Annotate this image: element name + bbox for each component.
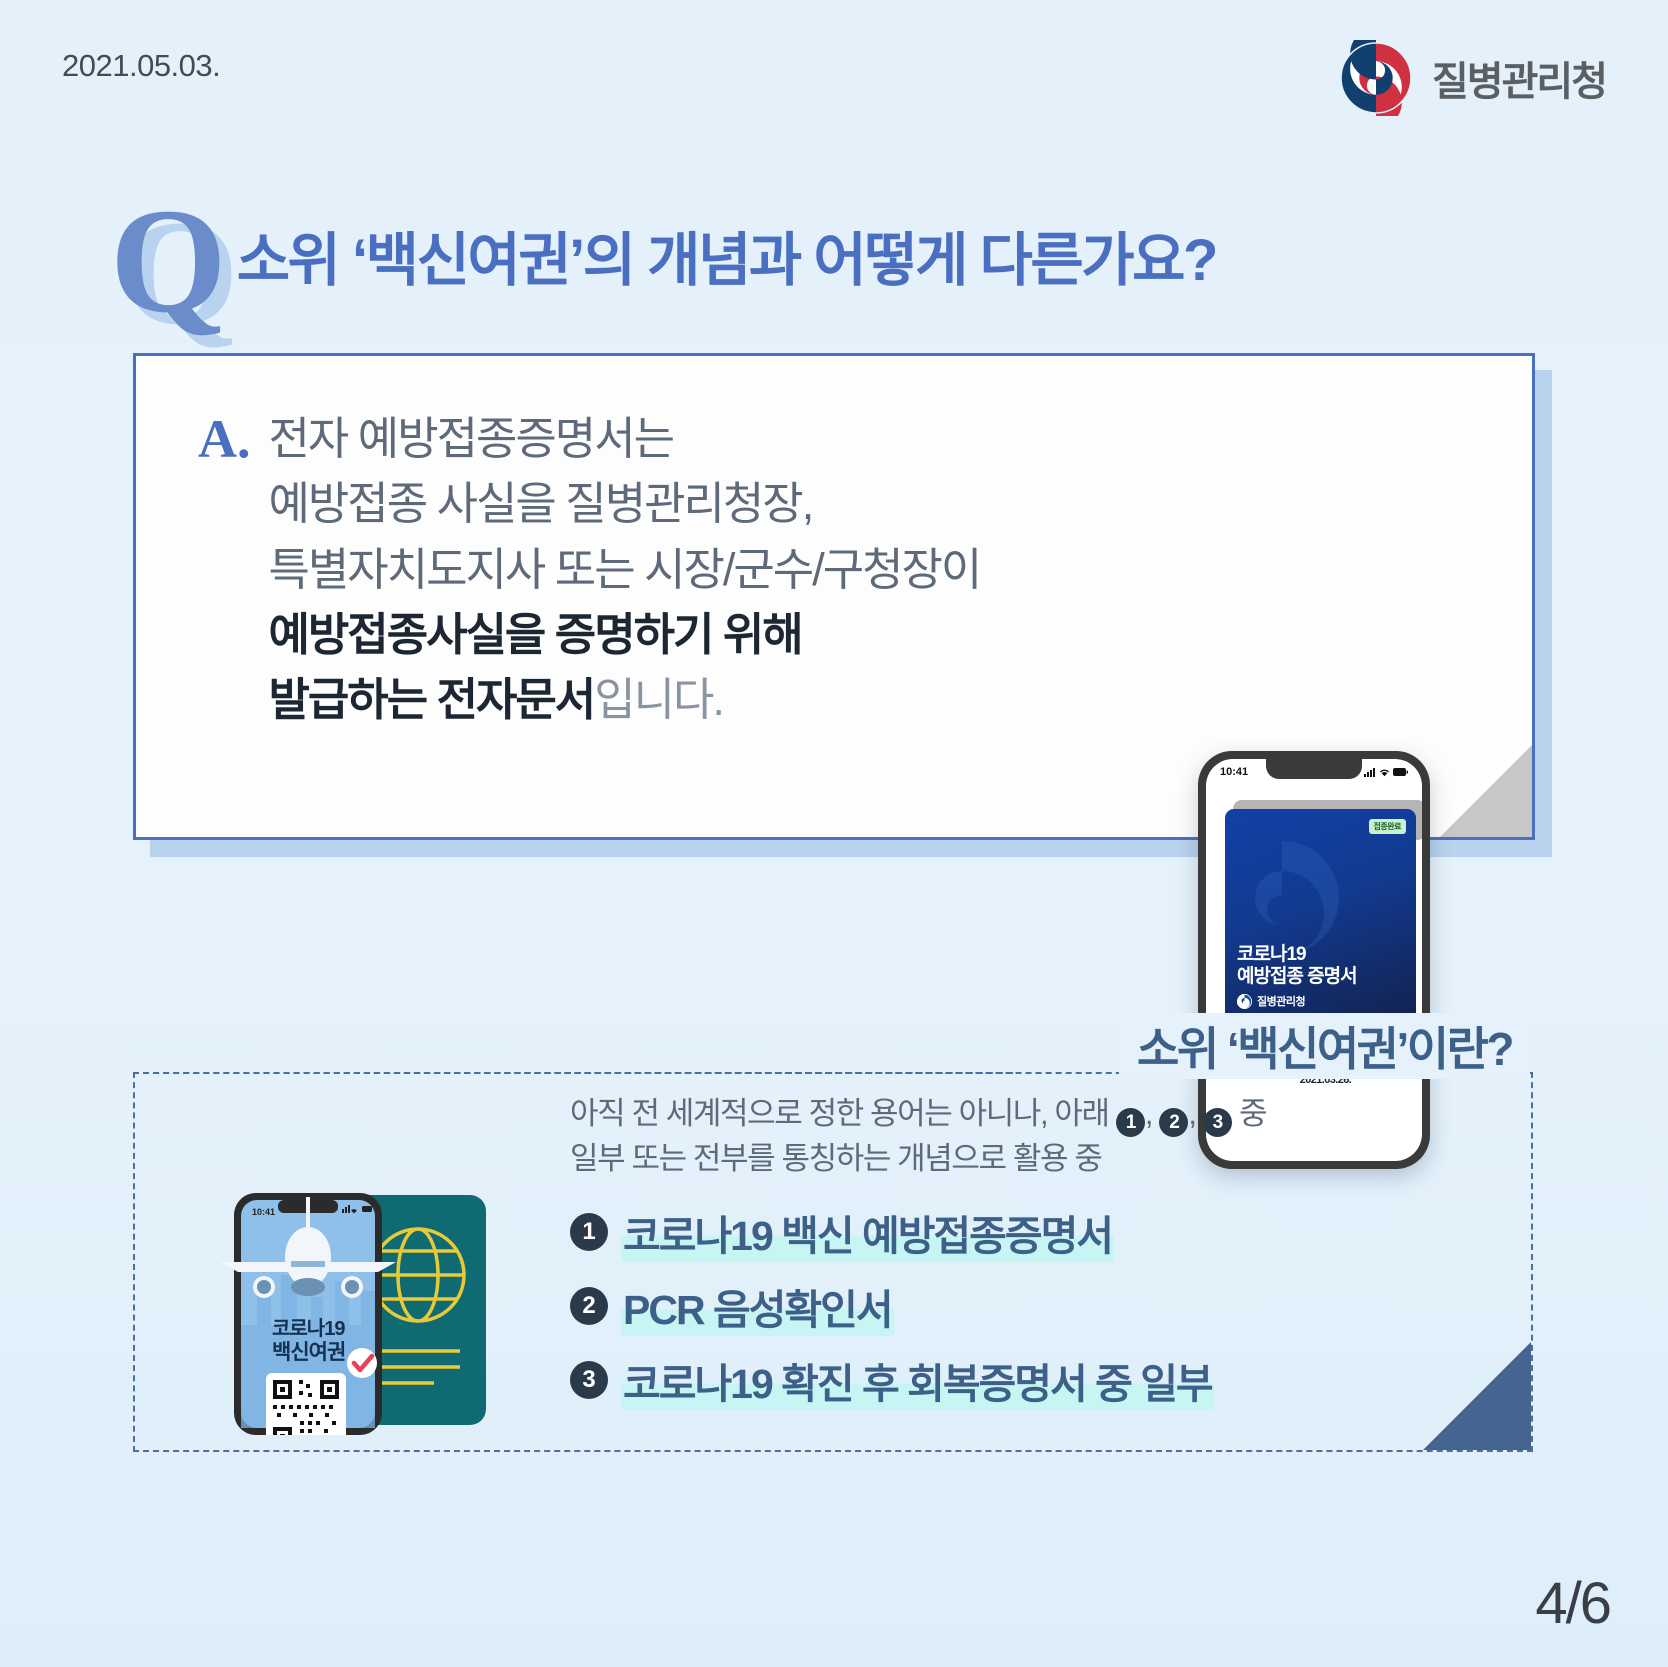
signal-icon (1364, 768, 1376, 777)
phone-passport-mockup: 10:41 (220, 1193, 396, 1435)
answer-line-3: 특별자치도지사 또는 시장/군수/구청장이 (269, 537, 981, 602)
phone-notch (1266, 759, 1362, 779)
certificate-title: 코로나19 예방접종 증명서 (1237, 944, 1357, 987)
vaccine-passport-list: 1 코로나19 백신 예방접종증명서 2 PCR 음성확인서 3 코로나19 확… (570, 1202, 1390, 1410)
section-title: 소위 ‘백신여권’이란? (1119, 1013, 1530, 1079)
certificate-title-line2: 예방접종 증명서 (1237, 966, 1357, 987)
taegeuk-small-icon (1237, 994, 1252, 1009)
answer-line-4: 예방접종사실을 증명하기 위해 (269, 602, 981, 667)
publish-date: 2021.05.03. (62, 48, 220, 84)
answer-line-1: 전자 예방접종증명서는 (269, 406, 981, 471)
certificate-card: 접종완료 코로나19 예방접종 증명서 질병관리청 (1225, 809, 1416, 1021)
infographic-page: 2021.05.03. 질병관리청 Q Q 소위 ‘백신여권’의 개념과 어떻게… (0, 0, 1668, 1667)
answer-marker: A. (198, 406, 251, 732)
question-title: 소위 ‘백신여권’의 개념과 어떻게 다른가요? (237, 213, 1216, 323)
question-heading: Q Q 소위 ‘백신여권’의 개념과 어떻게 다른가요? (110, 200, 1216, 323)
inline-number-2: 2 (1159, 1108, 1188, 1137)
list-item-label: 코로나19 확진 후 회복증명서 중 일부 (621, 1350, 1214, 1410)
answer-card: A. 전자 예방접종증명서는 예방접종 사실을 질병관리청장, 특별자치도지사 … (133, 353, 1535, 840)
list-item: 1 코로나19 백신 예방접종증명서 (570, 1202, 1390, 1262)
section-body: 아직 전 세계적으로 정한 용어는 아니나, 아래 1, 2, 3 중 일부 또… (570, 1092, 1390, 1424)
certificate-org: 질병관리청 (1237, 993, 1305, 1009)
list-number: 3 (570, 1361, 608, 1399)
kdca-logo: 질병관리청 (1338, 40, 1606, 116)
question-marker: Q Q (110, 200, 227, 323)
answer-block: A. 전자 예방접종증명서는 예방접종 사실을 질병관리청장, 특별자치도지사 … (198, 406, 980, 732)
certificate-org-label: 질병관리청 (1257, 993, 1305, 1009)
list-item-label: PCR 음성확인서 (621, 1276, 894, 1336)
paragraph-sep-2: , (1188, 1096, 1202, 1131)
inline-number-3: 3 (1203, 1108, 1232, 1137)
paragraph-part-1: 아직 전 세계적으로 정한 용어는 아니나, 아래 (570, 1096, 1116, 1131)
wifi-icon (1379, 768, 1390, 777)
check-icon (347, 1348, 377, 1378)
vaccine-passport-illustration: 10:41 (196, 1135, 526, 1435)
svg-text:코로나19: 코로나19 (272, 1317, 345, 1340)
inline-number-1: 1 (1116, 1108, 1145, 1137)
list-item: 3 코로나19 확진 후 회복증명서 중 일부 (570, 1350, 1390, 1410)
list-item: 2 PCR 음성확인서 (570, 1276, 1390, 1336)
list-number: 2 (570, 1287, 608, 1325)
page-number: 4/6 (1535, 1570, 1610, 1637)
paragraph-part-2: 중 (1232, 1096, 1266, 1131)
corner-triangle (1423, 1342, 1531, 1450)
list-item-label: 코로나19 백신 예방접종증명서 (621, 1202, 1114, 1262)
paragraph-line-2: 일부 또는 전부를 통칭하는 개념으로 활용 중 (570, 1137, 1390, 1180)
taegeuk-icon (1338, 40, 1414, 116)
paragraph-sep-1: , (1145, 1096, 1159, 1131)
status-time: 10:41 (1220, 766, 1248, 778)
list-number: 1 (570, 1213, 608, 1251)
svg-text:백신여권: 백신여권 (272, 1341, 345, 1364)
answer-text: 전자 예방접종증명서는 예방접종 사실을 질병관리청장, 특별자치도지사 또는 … (269, 406, 981, 732)
section-paragraph: 아직 전 세계적으로 정한 용어는 아니나, 아래 1, 2, 3 중 일부 또… (570, 1092, 1390, 1180)
battery-icon (1393, 768, 1408, 776)
card-fold-corner (1440, 745, 1532, 837)
org-name: 질병관리청 (1432, 49, 1606, 107)
answer-line-2: 예방접종 사실을 질병관리청장, (269, 471, 981, 536)
answer-line-5: 발급하는 전자문서입니다. (269, 667, 981, 732)
qr-code-icon (266, 1373, 346, 1435)
status-icons-group (1364, 768, 1408, 777)
svg-text:10:41: 10:41 (252, 1207, 275, 1217)
certificate-title-line1: 코로나19 (1237, 944, 1357, 965)
status-badge: 접종완료 (1369, 819, 1406, 834)
